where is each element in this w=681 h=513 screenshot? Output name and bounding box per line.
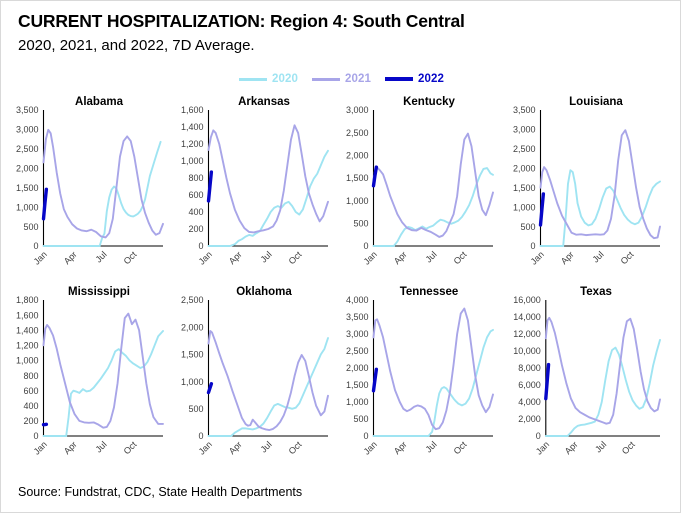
axis-lines xyxy=(541,110,661,246)
plot-area: 02004006008001,0001,2001,4001,6001,800Ja… xyxy=(1,286,169,471)
y-axis-tick-label: 0 xyxy=(363,431,368,441)
y-axis-tick-label: 1,800 xyxy=(16,295,39,305)
series-line-2020 xyxy=(209,338,329,436)
y-axis-tick-label: 3,500 xyxy=(346,312,369,322)
y-axis-tick-label: 1,500 xyxy=(346,173,369,183)
chart-panel-kentucky: Kentucky05001,0001,5002,0002,5003,000Jan… xyxy=(331,96,499,281)
y-axis-tick-label: 1,600 xyxy=(16,310,39,320)
y-axis-tick-label: 4,000 xyxy=(518,397,541,407)
y-axis-tick-label: 14,000 xyxy=(513,312,541,322)
x-axis-tick-label: Oct xyxy=(122,249,139,266)
y-axis-tick-label: 0 xyxy=(536,431,541,441)
y-axis-tick-label: 1,400 xyxy=(181,122,204,132)
series-line-2020 xyxy=(374,330,494,436)
chart-panel-louisiana: Louisiana05001,0001,5002,0002,5003,0003,… xyxy=(498,96,666,281)
x-axis-tick-label: Jan xyxy=(362,249,379,266)
legend-swatch-icon xyxy=(312,78,340,81)
x-axis-tick-label: Apr xyxy=(227,439,244,456)
plot-area: 05001,0001,5002,0002,5003,0003,5004,000J… xyxy=(331,286,499,471)
y-axis-tick-label: 1,500 xyxy=(16,183,39,193)
x-axis-tick-label: Jan xyxy=(197,439,214,456)
x-axis-tick-label: Apr xyxy=(392,439,409,456)
y-axis-tick-label: 500 xyxy=(353,219,368,229)
chart-panel-texas: Texas02,0004,0006,0008,00010,00012,00014… xyxy=(498,286,666,471)
y-axis-tick-label: 2,500 xyxy=(513,144,536,154)
y-axis-tick-label: 8,000 xyxy=(518,363,541,373)
series-line-2021 xyxy=(374,134,494,237)
chart-panel-tennessee: Tennessee05001,0001,5002,0002,5003,0003,… xyxy=(331,286,499,471)
chart-page: CURRENT HOSPITALIZATION: Region 4: South… xyxy=(0,0,681,513)
y-axis-tick-label: 800 xyxy=(23,371,38,381)
y-axis-tick-label: 16,000 xyxy=(513,295,541,305)
x-axis-tick-label: Apr xyxy=(563,439,580,456)
series-line-2021 xyxy=(374,309,494,430)
legend-label: 2020 xyxy=(272,73,298,85)
y-axis-tick-label: 2,500 xyxy=(346,128,369,138)
x-axis-tick-label: Jan xyxy=(534,439,551,456)
chart-panel-mississippi: Mississippi02004006008001,0001,2001,4001… xyxy=(1,286,169,471)
y-axis-tick-label: 6,000 xyxy=(518,380,541,390)
legend-item-2020[interactable]: 2020 xyxy=(239,73,298,85)
chart-panel-alabama: Alabama05001,0001,5002,0002,5003,0003,50… xyxy=(1,96,169,281)
y-axis-tick-label: 800 xyxy=(188,173,203,183)
y-axis-tick-label: 2,000 xyxy=(16,163,39,173)
plot-area: 05001,0001,5002,0002,5003,000JanAprJulOc… xyxy=(331,96,499,281)
y-axis-tick-label: 0 xyxy=(198,431,203,441)
plot-area: 05001,0001,5002,0002,500JanAprJulOct xyxy=(166,286,334,471)
y-axis-tick-label: 4,000 xyxy=(346,295,369,305)
y-axis-tick-label: 0 xyxy=(198,241,203,251)
y-axis-tick-label: 2,000 xyxy=(513,163,536,173)
chart-legend: 202020212022 xyxy=(1,73,681,85)
x-axis-tick-label: Jul xyxy=(93,439,108,454)
x-axis-tick-label: Oct xyxy=(452,249,469,266)
y-axis-tick-label: 1,200 xyxy=(16,341,39,351)
x-axis-tick-label: Jan xyxy=(362,439,379,456)
y-axis-tick-label: 12,000 xyxy=(513,329,541,339)
y-axis-tick-label: 0 xyxy=(530,241,535,251)
y-axis-tick-label: 3,000 xyxy=(346,105,369,115)
series-line-2020 xyxy=(44,331,164,436)
x-axis-tick-label: Jul xyxy=(258,249,273,264)
y-axis-tick-label: 600 xyxy=(23,386,38,396)
y-axis-tick-label: 1,000 xyxy=(346,196,369,206)
y-axis-tick-label: 10,000 xyxy=(513,346,541,356)
x-axis-tick-label: Jan xyxy=(32,249,49,266)
plot-area: 05001,0001,5002,0002,5003,0003,500JanApr… xyxy=(498,96,666,281)
y-axis-tick-label: 2,500 xyxy=(346,346,369,356)
x-axis-tick-label: Jul xyxy=(593,439,608,454)
x-axis-tick-label: Jan xyxy=(197,249,214,266)
y-axis-tick-label: 2,500 xyxy=(181,295,204,305)
legend-item-2022[interactable]: 2022 xyxy=(385,73,444,85)
y-axis-tick-label: 400 xyxy=(23,401,38,411)
y-axis-tick-label: 1,000 xyxy=(181,377,204,387)
y-axis-tick-label: 1,400 xyxy=(16,325,39,335)
page-title: CURRENT HOSPITALIZATION: Region 4: South… xyxy=(18,11,465,32)
y-axis-tick-label: 400 xyxy=(188,207,203,217)
plot-area: 02004006008001,0001,2001,4001,600JanAprJ… xyxy=(166,96,334,281)
y-axis-tick-label: 2,500 xyxy=(16,144,39,154)
x-axis-tick-label: Jul xyxy=(258,439,273,454)
x-axis-tick-label: Apr xyxy=(62,439,79,456)
plot-area: 05001,0001,5002,0002,5003,0003,500JanApr… xyxy=(1,96,169,281)
y-axis-tick-label: 500 xyxy=(353,414,368,424)
y-axis-tick-label: 1,500 xyxy=(181,350,204,360)
y-axis-tick-label: 3,500 xyxy=(513,105,536,115)
series-line-2021 xyxy=(44,130,164,238)
y-axis-tick-label: 1,000 xyxy=(16,356,39,366)
x-axis-tick-label: Jul xyxy=(423,249,438,264)
y-axis-tick-label: 3,000 xyxy=(346,329,369,339)
x-axis-tick-label: Oct xyxy=(620,439,637,456)
y-axis-tick-label: 500 xyxy=(23,222,38,232)
y-axis-tick-label: 0 xyxy=(363,241,368,251)
x-axis-tick-label: Oct xyxy=(287,249,304,266)
y-axis-tick-label: 2,000 xyxy=(518,414,541,424)
x-axis-tick-label: Jan xyxy=(32,439,49,456)
x-axis-tick-label: Oct xyxy=(287,439,304,456)
x-axis-tick-label: Apr xyxy=(392,249,409,266)
x-axis-tick-label: Apr xyxy=(227,249,244,266)
y-axis-tick-label: 1,200 xyxy=(181,139,204,149)
legend-swatch-icon xyxy=(239,78,267,81)
y-axis-tick-label: 1,500 xyxy=(513,183,536,193)
x-axis-tick-label: Oct xyxy=(619,249,636,266)
y-axis-tick-label: 1,000 xyxy=(346,397,369,407)
x-axis-tick-label: Jul xyxy=(93,249,108,264)
x-axis-tick-label: Oct xyxy=(122,439,139,456)
legend-item-2021[interactable]: 2021 xyxy=(312,73,371,85)
plot-area: 02,0004,0006,0008,00010,00012,00014,0001… xyxy=(498,286,666,471)
y-axis-tick-label: 200 xyxy=(188,224,203,234)
x-axis-tick-label: Apr xyxy=(62,249,79,266)
y-axis-tick-label: 1,000 xyxy=(16,202,39,212)
x-axis-tick-label: Jan xyxy=(529,249,546,266)
y-axis-tick-label: 0 xyxy=(33,431,38,441)
y-axis-tick-label: 500 xyxy=(520,222,535,232)
y-axis-tick-label: 3,000 xyxy=(16,125,39,135)
y-axis-tick-label: 3,000 xyxy=(513,125,536,135)
y-axis-tick-label: 2,000 xyxy=(346,363,369,373)
y-axis-tick-label: 3,500 xyxy=(16,105,39,115)
y-axis-tick-label: 500 xyxy=(188,404,203,414)
legend-label: 2021 xyxy=(345,73,371,85)
axis-lines xyxy=(44,110,164,246)
y-axis-tick-label: 1,000 xyxy=(513,202,536,212)
x-axis-tick-label: Oct xyxy=(452,439,469,456)
y-axis-tick-label: 200 xyxy=(23,416,38,426)
series-line-2021 xyxy=(44,314,164,428)
x-axis-tick-label: Jul xyxy=(423,439,438,454)
x-axis-tick-label: Apr xyxy=(559,249,576,266)
x-axis-tick-label: Jul xyxy=(590,249,605,264)
series-line-2021 xyxy=(541,130,661,238)
y-axis-tick-label: 1,500 xyxy=(346,380,369,390)
y-axis-tick-label: 0 xyxy=(33,241,38,251)
y-axis-tick-label: 600 xyxy=(188,190,203,200)
chart-panel-arkansas: Arkansas02004006008001,0001,2001,4001,60… xyxy=(166,96,334,281)
legend-swatch-icon xyxy=(385,77,413,81)
y-axis-tick-label: 2,000 xyxy=(181,322,204,332)
source-note: Source: Fundstrat, CDC, State Health Dep… xyxy=(18,485,302,499)
y-axis-tick-label: 1,000 xyxy=(181,156,204,166)
legend-label: 2022 xyxy=(418,73,444,85)
page-subtitle: 2020, 2021, and 2022, 7D Average. xyxy=(18,37,255,54)
panel-grid: Alabama05001,0001,5002,0002,5003,0003,50… xyxy=(1,96,681,474)
y-axis-tick-label: 1,600 xyxy=(181,105,204,115)
chart-panel-oklahoma: Oklahoma05001,0001,5002,0002,500JanAprJu… xyxy=(166,286,334,471)
y-axis-tick-label: 2,000 xyxy=(346,151,369,161)
